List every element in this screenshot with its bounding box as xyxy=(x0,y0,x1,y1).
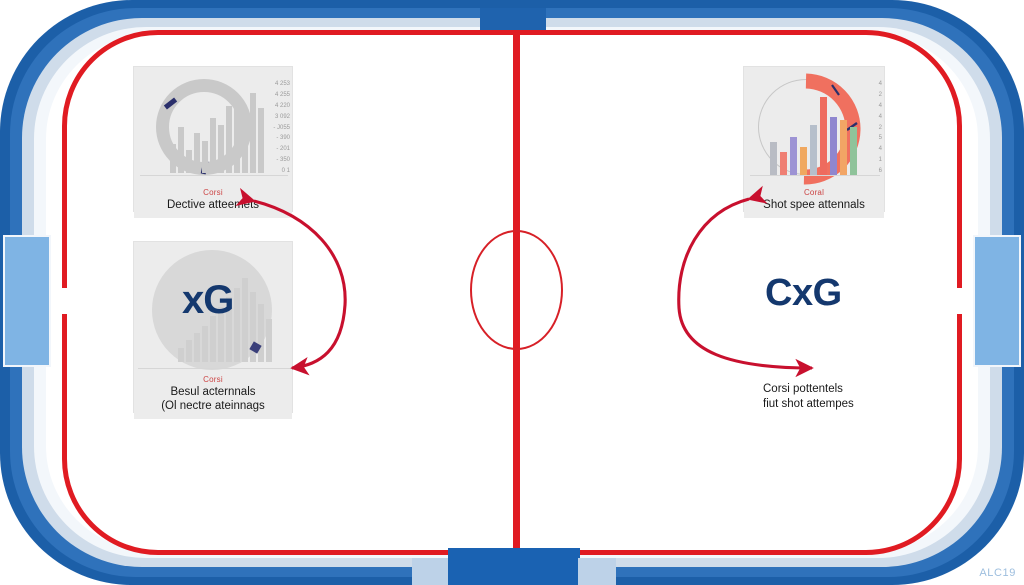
axis-tick: 4 xyxy=(879,103,882,110)
axis-tick: 4 xyxy=(879,114,882,121)
xg-chart: xG xyxy=(134,242,292,372)
shot-caption: Coral Shot spee attennals xyxy=(744,185,884,218)
xg-baseline xyxy=(138,368,290,369)
shot-chart: 424425416 xyxy=(744,67,884,185)
bar xyxy=(210,316,216,362)
xg-caption-line-1: Besul acternnals xyxy=(138,385,288,399)
center-faceoff-circle xyxy=(470,230,563,350)
bar xyxy=(170,144,176,173)
shot-baseline xyxy=(750,175,880,176)
axis-tick: 3 092 xyxy=(275,114,290,121)
axis-tick: - 390 xyxy=(276,135,290,142)
rink-gate-right xyxy=(955,288,964,314)
bar xyxy=(266,319,272,362)
deflect-baseline xyxy=(140,175,288,176)
deflect-axis-ticks: 4 2534 2554 2203 092- J055- 390- 201- 35… xyxy=(256,81,290,175)
bar xyxy=(840,120,847,175)
cxg-caption: Corsi pottentels fiut shot attempes xyxy=(763,382,854,412)
axis-tick: 4 255 xyxy=(275,92,290,99)
shot-bar-group xyxy=(770,93,857,175)
bar xyxy=(830,117,837,175)
axis-tick: 5 xyxy=(879,135,882,142)
deflect-bar-group xyxy=(170,91,264,173)
panel-shot-speed-attempts[interactable]: 424425416 Coral Shot spee attennals xyxy=(743,66,885,212)
cxg-heading: CxG xyxy=(765,272,842,315)
rink-gate-left xyxy=(60,288,69,314)
bar xyxy=(242,112,248,173)
bottom-score-box xyxy=(448,548,580,585)
bottom-box-right-pad xyxy=(578,558,616,585)
deflect-caption: Corsi Dective atteemets xyxy=(134,185,292,218)
bar xyxy=(790,137,797,175)
axis-tick: - 201 xyxy=(276,146,290,153)
axis-tick: 4 xyxy=(879,146,882,153)
panel-xg[interactable]: xG Corsi Besul acternnals (Ol nectre ate… xyxy=(133,241,293,413)
bar xyxy=(810,125,817,175)
bar xyxy=(186,150,192,173)
xg-series-label: Corsi xyxy=(138,374,288,385)
axis-tick: 4 220 xyxy=(275,103,290,110)
bar xyxy=(800,147,807,175)
bar xyxy=(226,106,232,173)
bar xyxy=(218,125,224,173)
axis-tick: 2 xyxy=(879,92,882,99)
shot-series-label: Coral xyxy=(748,187,880,198)
bar xyxy=(234,288,240,362)
shot-axis-ticks: 424425416 xyxy=(866,81,882,175)
bar xyxy=(202,141,208,173)
right-bench xyxy=(973,235,1021,367)
bar xyxy=(178,127,184,173)
left-bench xyxy=(3,235,51,367)
axis-tick: 0 1 xyxy=(282,168,290,175)
bar xyxy=(194,333,200,362)
cxg-caption-line-1: Corsi pottentels xyxy=(763,382,854,397)
cxg-caption-line-2: fiut shot attempes xyxy=(763,397,854,412)
panel-deflective-attempts[interactable]: 4 2534 2554 2203 092- J055- 390- 201- 35… xyxy=(133,66,293,212)
axis-tick: 4 xyxy=(879,81,882,88)
axis-tick: 1 xyxy=(879,157,882,164)
deflect-series-label: Corsi xyxy=(138,187,288,198)
axis-tick: - J055 xyxy=(273,125,290,132)
deflect-chart: 4 2534 2554 2203 092- J055- 390- 201- 35… xyxy=(134,67,292,185)
bar xyxy=(194,133,200,173)
top-score-box xyxy=(480,8,546,30)
bar xyxy=(202,326,208,362)
bar xyxy=(780,152,787,175)
bar xyxy=(242,278,248,362)
bar xyxy=(258,304,264,362)
xg-caption-line-2: (Ol nectre ateinnags xyxy=(138,399,288,413)
bar xyxy=(770,142,777,175)
deflect-caption-line-1: Dective atteemets xyxy=(138,198,288,212)
bar xyxy=(820,97,827,175)
rink-diagram-canvas: 4 2534 2554 2203 092- J055- 390- 201- 35… xyxy=(0,0,1024,585)
axis-tick: 6 xyxy=(879,168,882,175)
axis-tick: 2 xyxy=(879,125,882,132)
axis-tick: 4 253 xyxy=(275,81,290,88)
bar xyxy=(234,99,240,173)
xg-big-label: xG xyxy=(182,278,233,323)
bar xyxy=(186,340,192,362)
xg-caption: Corsi Besul acternnals (Ol nectre ateinn… xyxy=(134,372,292,419)
bar xyxy=(210,118,216,173)
bar xyxy=(178,348,184,362)
axis-tick: - 350 xyxy=(276,157,290,164)
bottom-box-left-pad xyxy=(412,558,450,585)
watermark-label: ALC19 xyxy=(979,567,1016,579)
bar xyxy=(850,127,857,175)
shot-caption-line-1: Shot spee attennals xyxy=(748,198,880,212)
